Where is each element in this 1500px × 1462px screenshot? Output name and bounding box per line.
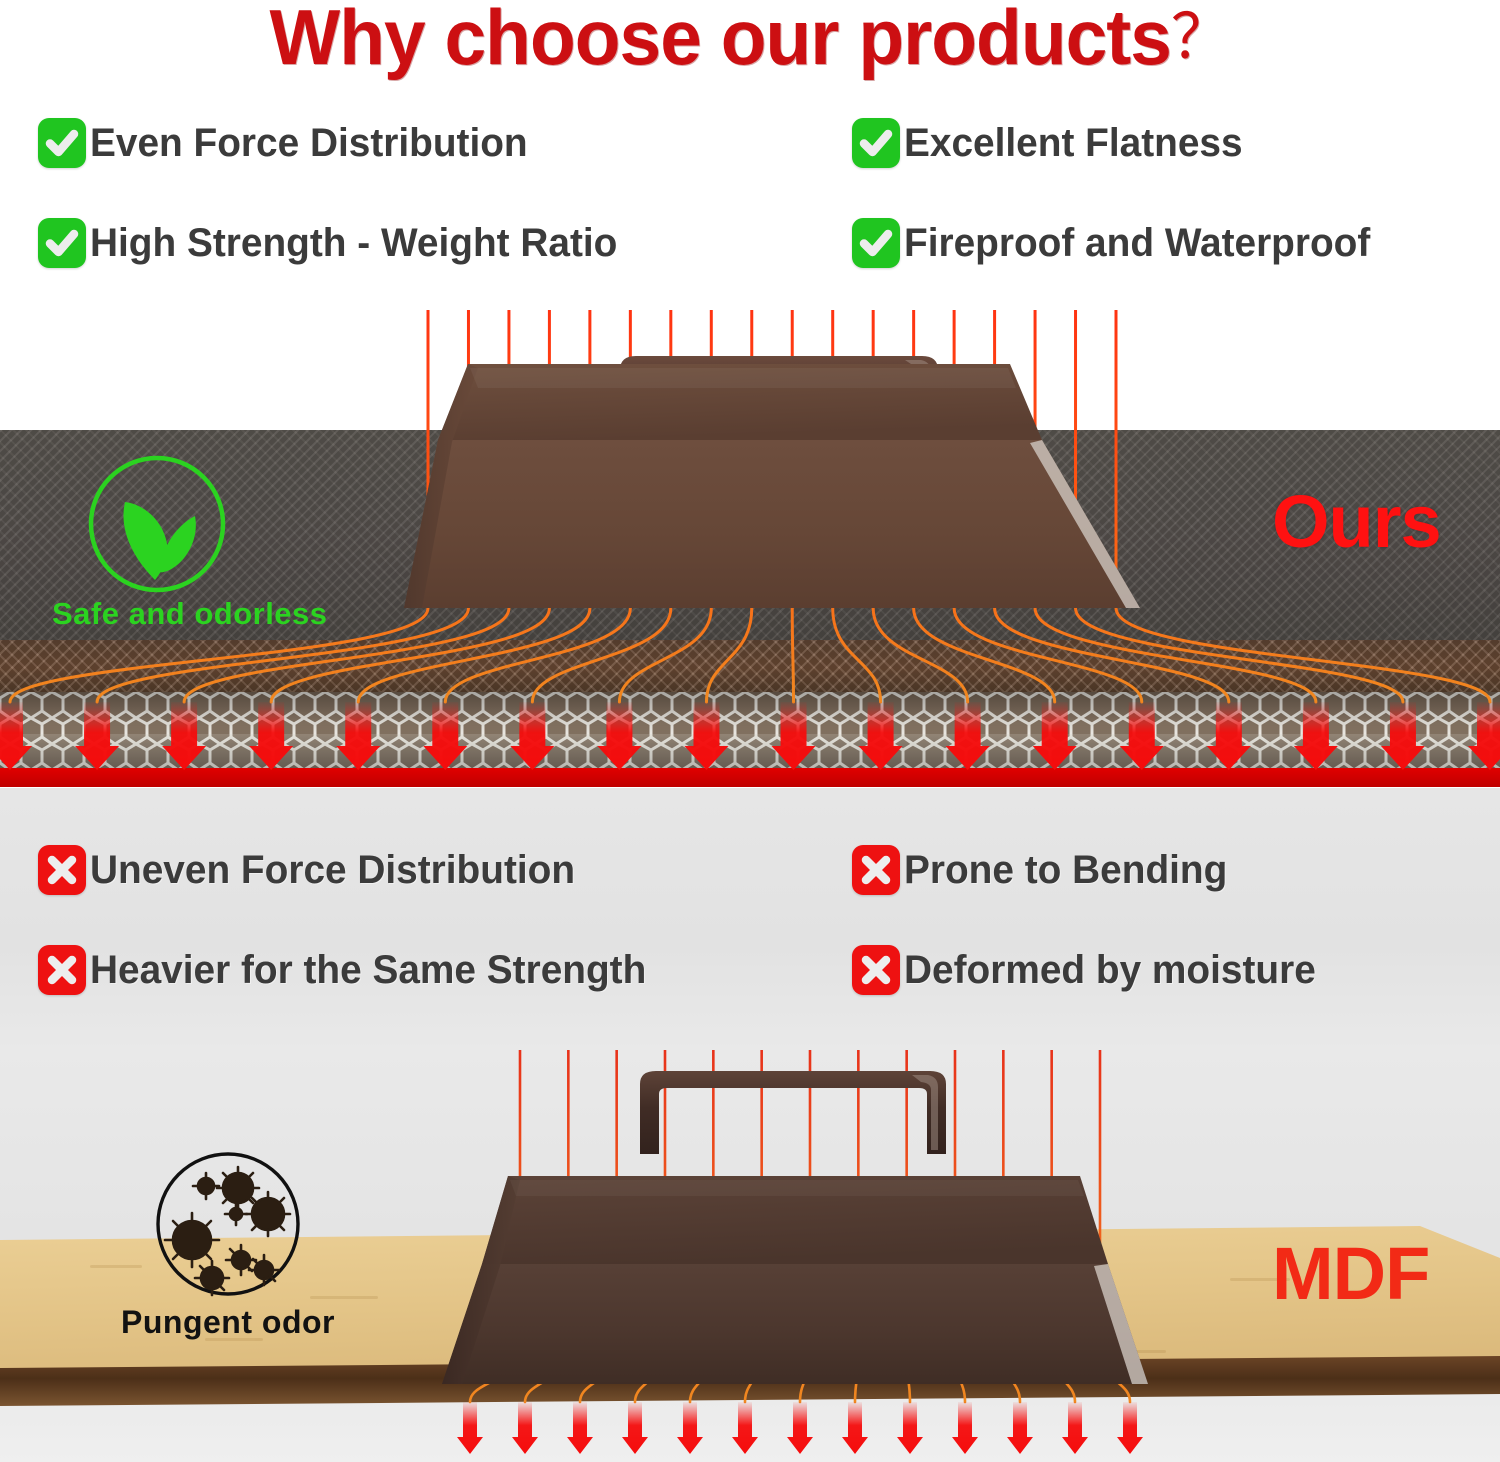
leaf-circle-icon [71,452,243,602]
page-title: Why choose our products？ [30,0,1470,79]
pungent-odor-label: Pungent odor [118,1304,338,1341]
check-icon [852,218,900,268]
con-label: Uneven Force Distribution [90,847,575,893]
page-title-text: Why choose our products [269,0,1171,81]
cons-row-2: Heavier for the Same Strength Deformed b… [0,945,1500,1045]
pro-label: Excellent Flatness [904,120,1243,166]
ours-product-scene: Ours Safe and odorless [0,310,1500,788]
con-label: Heavier for the Same Strength [90,947,646,993]
germ-circle-icon [140,1148,316,1308]
brown-diamond-layer [0,640,1500,695]
eco-safe-label: Safe and odorless [52,596,262,632]
pro-label: Fireproof and Waterproof [904,220,1370,266]
eco-safe-badge: Safe and odorless [52,452,262,632]
pro-label: High Strength - Weight Ratio [90,220,617,266]
cons-list: Uneven Force Distribution Prone to Bendi… [0,845,1500,1045]
con-item-heavier-for-the-same-strength: Heavier for the Same Strength [38,945,664,995]
con-label: Prone to Bending [904,847,1227,893]
cons-row-1: Uneven Force Distribution Prone to Bendi… [0,845,1500,945]
question-mark: ？ [1171,3,1231,72]
pros-row-2: High Strength - Weight Ratio Fireproof a… [0,218,1500,318]
cross-icon [852,945,900,995]
con-item-prone-to-bending: Prone to Bending [852,845,1237,895]
cross-icon [38,845,86,895]
pro-item-excellent-flatness: Excellent Flatness [852,118,1253,168]
check-icon [38,218,86,268]
pungent-odor-badge: Pungent odor [118,1148,338,1341]
cross-icon [852,845,900,895]
cross-icon [38,945,86,995]
product-comparison-infographic: Why choose our products？ Even Force Dist… [0,0,1500,1462]
con-label: Deformed by moisture [904,947,1316,993]
check-icon [38,118,86,168]
pros-row-1: Even Force Distribution Excellent Flatne… [0,118,1500,218]
mdf-label: MDF [1272,1236,1429,1312]
aluminum-honeycomb-core [0,692,1500,770]
red-base-bar [0,768,1500,787]
pro-label: Even Force Distribution [90,120,528,166]
pro-item-fireproof-and-waterproof: Fireproof and Waterproof [852,218,1385,268]
pro-item-even-force-distribution: Even Force Distribution [38,118,541,168]
check-icon [852,118,900,168]
ours-label: Ours [1272,484,1441,560]
trapezoid-press-block [442,1071,1148,1384]
pro-item-high-strength-weight-ratio: High Strength - Weight Ratio [38,218,634,268]
con-item-uneven-force-distribution: Uneven Force Distribution [38,845,590,895]
con-item-deformed-by-moisture: Deformed by moisture [852,945,1329,995]
mdf-product-scene: MDF [0,1050,1500,1462]
pros-list: Even Force Distribution Excellent Flatne… [0,118,1500,318]
